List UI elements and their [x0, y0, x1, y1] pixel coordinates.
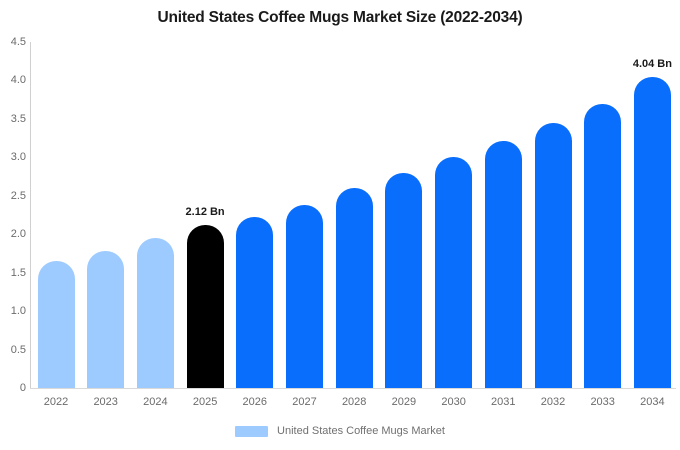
x-axis-tick-label: 2034: [622, 396, 680, 408]
legend-label[interactable]: United States Coffee Mugs Market: [277, 425, 445, 437]
chart-legend: United States Coffee Mugs Market: [0, 425, 680, 437]
legend-swatch: [235, 426, 268, 437]
chart-container: United States Coffee Mugs Market Size (2…: [0, 0, 680, 450]
x-axis: 2022202320242025202620272028202920302031…: [0, 0, 680, 450]
